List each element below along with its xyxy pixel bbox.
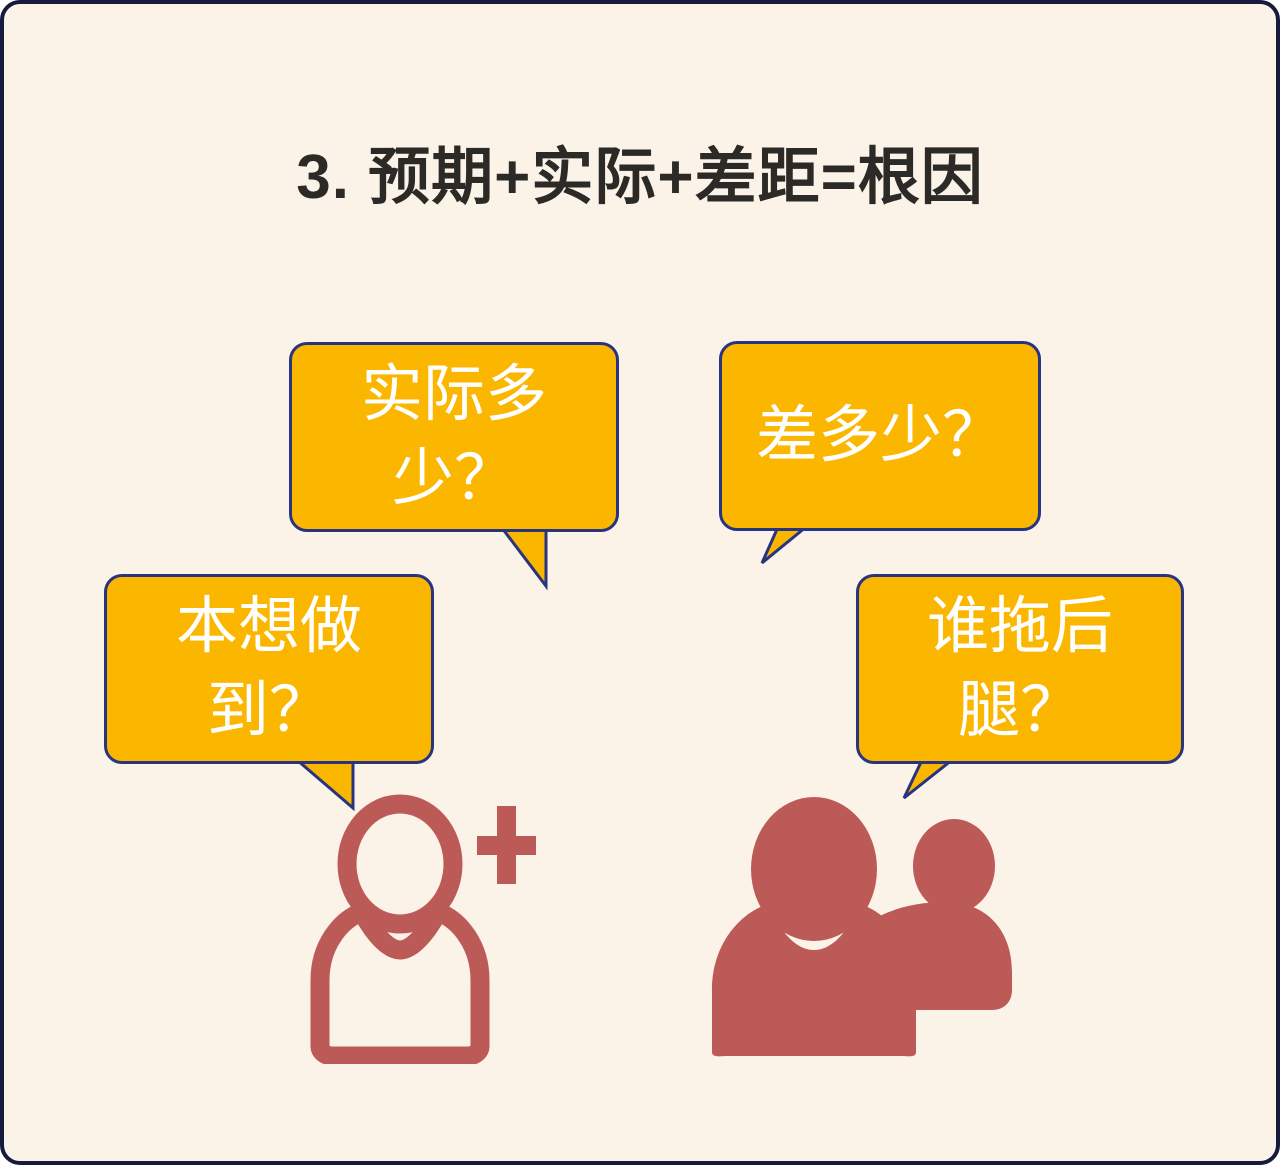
speech-bubble-tail-actual (502, 528, 562, 590)
speech-bubble-blocker-text: 谁拖后腿？ (885, 585, 1155, 752)
speech-bubble-tail-gap (762, 527, 822, 567)
slide-canvas: 3. 预期+实际+差距=根因 实际多少？ 差多少？ 本想做到？ 谁拖后腿？ (0, 0, 1280, 1165)
speech-bubble-intent-text: 本想做到？ (133, 585, 405, 752)
speech-bubble-actual-text: 实际多少？ (318, 353, 590, 520)
speech-bubble-tail-blocker (904, 760, 966, 802)
speech-bubble-tail-intent (297, 760, 365, 812)
speech-bubble-gap[interactable]: 差多少？ (719, 341, 1041, 531)
speech-bubble-intent[interactable]: 本想做到？ (104, 574, 434, 764)
page-title: 3. 预期+实际+差距=根因 (4, 144, 1276, 212)
speech-bubble-gap-text: 差多少？ (748, 394, 1012, 478)
add-user-icon (304, 794, 564, 1064)
speech-bubble-blocker[interactable]: 谁拖后腿？ (856, 574, 1184, 764)
speech-bubble-actual[interactable]: 实际多少？ (289, 342, 619, 532)
users-group-icon (694, 794, 1044, 1064)
